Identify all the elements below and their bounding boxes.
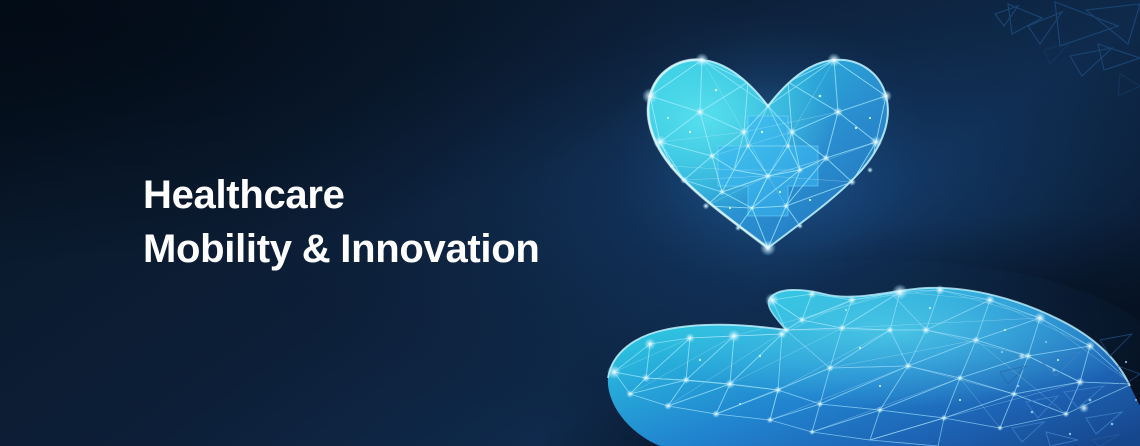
- headline-line-2-part-1: Mobility: [143, 227, 292, 271]
- headline-line-2: Mobility&Innovation: [143, 222, 540, 276]
- headline-line-2-part-2: Innovation: [340, 227, 539, 271]
- banner-headline: Healthcare Mobility&Innovation: [143, 168, 540, 276]
- healthcare-banner: Healthcare Mobility&Innovation: [0, 0, 1140, 446]
- headline-line-1: Healthcare: [143, 168, 540, 222]
- headline-ampersand: &: [292, 227, 341, 271]
